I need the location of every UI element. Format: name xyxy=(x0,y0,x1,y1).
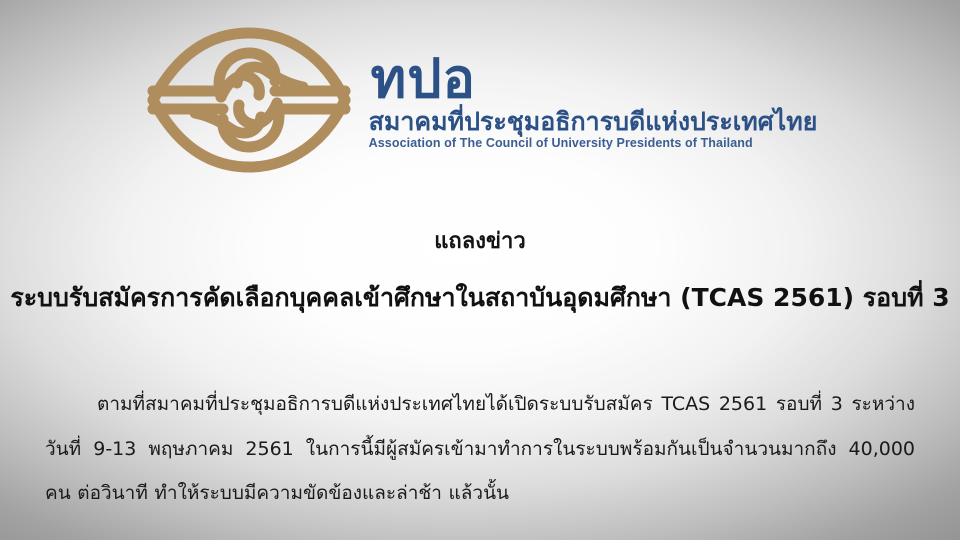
organization-wordmark: ทปอ สมาคมที่ประชุมอธิการบดีแห่งประเทศไทย… xyxy=(369,49,818,151)
cupt-knot-emblem-icon xyxy=(143,25,355,175)
press-release-label: แถลงข่าว xyxy=(0,228,960,256)
organization-logo-lockup: ทปอ สมาคมที่ประชุมอธิการบดีแห่งประเทศไทย… xyxy=(0,24,960,176)
page-title: ระบบรับสมัครการคัดเลือกบุคคลเข้าศึกษาในส… xyxy=(0,282,960,315)
organization-name-thai: สมาคมที่ประชุมอธิการบดีแห่งประเทศไทย xyxy=(369,108,818,136)
press-release-slide: ทปอ สมาคมที่ประชุมอธิการบดีแห่งประเทศไทย… xyxy=(0,0,960,540)
body-block: ตามที่สมาคมที่ประชุมอธิการบดีแห่งประเทศไ… xyxy=(45,382,915,516)
organization-name-english: Association of The Council of University… xyxy=(369,137,753,151)
body-paragraph: ตามที่สมาคมที่ประชุมอธิการบดีแห่งประเทศไ… xyxy=(45,382,915,516)
organization-acronym: ทปอ xyxy=(371,53,476,106)
title-block: แถลงข่าว ระบบรับสมัครการคัดเลือกบุคคลเข้… xyxy=(0,228,960,314)
